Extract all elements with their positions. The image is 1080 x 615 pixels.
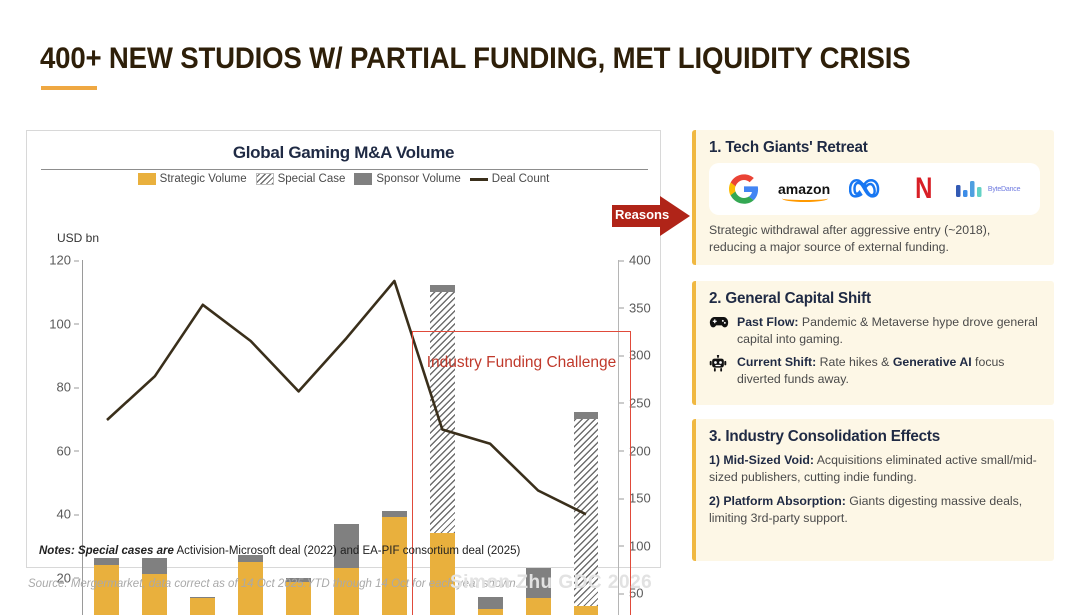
paragraph-platform-absorption: 2) Platform Absorption: Giants digesting… bbox=[709, 493, 1040, 526]
chart-legend: Strategic Volume Special Case Sponsor Vo… bbox=[27, 173, 660, 185]
chart-panel: Global Gaming M&A Volume Strategic Volum… bbox=[26, 130, 661, 568]
notes-text: Activision-Microsoft deal (2022) and EA-… bbox=[176, 545, 520, 557]
legend-item-strategic-volume: Strategic Volume bbox=[138, 173, 247, 185]
bullet-current-shift-body-a: Rate hikes & bbox=[816, 355, 893, 369]
panel-2-heading: 2. General Capital Shift bbox=[709, 290, 1023, 308]
legend-item-sponsor-volume: Sponsor Volume bbox=[354, 173, 460, 185]
amazon-smile-icon bbox=[782, 195, 828, 202]
watermark: Simon Zhu GDC 2026 bbox=[450, 572, 652, 594]
bullet-current-shift: Current Shift: Rate hikes & Generative A… bbox=[709, 354, 1040, 387]
panel-1-heading: 1. Tech Giants' Retreat bbox=[709, 139, 1023, 157]
y-tick-right-350: 350 bbox=[619, 300, 661, 315]
paragraph-2-label: 2) Platform Absorption: bbox=[709, 494, 846, 508]
y-tick-left-100: 100 bbox=[35, 316, 79, 331]
source-note: Source: Mergermarket, data correct as of… bbox=[28, 578, 519, 590]
bullet-current-shift-emphasis: Generative AI bbox=[893, 355, 972, 369]
legend-label-deal-count: Deal Count bbox=[492, 173, 550, 185]
bullet-past-flow: Past Flow: Pandemic & Metaverse hype dro… bbox=[709, 314, 1040, 347]
y-tick-left-120: 120 bbox=[35, 253, 79, 268]
page-title: 400+ NEW STUDIOS W/ PARTIAL FUNDING, MET… bbox=[40, 42, 910, 76]
y-tick-left-40: 40 bbox=[35, 507, 79, 522]
y-axis-left: 020406080100120 bbox=[35, 260, 79, 615]
title-underline-accent bbox=[41, 86, 97, 90]
panel-1-body: Strategic withdrawal after aggressive en… bbox=[709, 222, 1040, 255]
legend-item-special-case: Special Case bbox=[256, 173, 346, 185]
panel-3-heading: 3. Industry Consolidation Effects bbox=[709, 428, 1023, 446]
amazon-logo-text: amazon bbox=[778, 182, 830, 196]
legend-label-strategic: Strategic Volume bbox=[160, 173, 247, 185]
panel-general-capital-shift: 2. General Capital Shift Past Flow: Pand… bbox=[692, 281, 1054, 405]
notes-prefix: Notes: Special cases are bbox=[39, 545, 174, 557]
legend-item-deal-count: Deal Count bbox=[470, 173, 550, 185]
gamepad-icon bbox=[709, 314, 729, 334]
legend-swatch-deal-count bbox=[470, 178, 488, 181]
legend-swatch-sponsor bbox=[354, 173, 372, 185]
bullet-past-flow-text: Past Flow: Pandemic & Metaverse hype dro… bbox=[737, 314, 1040, 347]
legend-label-special: Special Case bbox=[278, 173, 346, 185]
bullet-past-flow-label: Past Flow: bbox=[737, 315, 799, 329]
meta-logo bbox=[849, 175, 893, 203]
legend-swatch-strategic bbox=[138, 173, 156, 185]
amazon-logo: amazon bbox=[778, 182, 830, 196]
tech-giant-logo-strip: amazon N ByteDance bbox=[709, 163, 1040, 215]
reasons-arrow-label: Reasons bbox=[615, 207, 665, 222]
google-logo bbox=[729, 174, 759, 204]
legend-divider bbox=[41, 169, 648, 170]
legend-swatch-special bbox=[256, 173, 274, 185]
y-tick-right-400: 400 bbox=[619, 253, 661, 268]
y-axis-unit-label: USD bn bbox=[57, 231, 99, 245]
paragraph-1-label: 1) Mid-Sized Void: bbox=[709, 453, 814, 467]
reasons-arrow: Reasons bbox=[612, 196, 690, 236]
legend-label-sponsor: Sponsor Volume bbox=[376, 173, 460, 185]
netflix-logo: N bbox=[915, 174, 932, 204]
bullet-current-shift-label: Current Shift: bbox=[737, 355, 816, 369]
y-tick-left-80: 80 bbox=[35, 380, 79, 395]
chart-notes: Notes: Special cases are Activision-Micr… bbox=[39, 545, 520, 557]
industry-funding-challenge-label: Industry Funding Challenge bbox=[416, 337, 627, 389]
panel-tech-giants-retreat: 1. Tech Giants' Retreat amazon N bbox=[692, 130, 1054, 265]
bullet-current-shift-text: Current Shift: Rate hikes & Generative A… bbox=[737, 354, 1040, 387]
bytedance-logo-text: ByteDance bbox=[988, 186, 1020, 193]
paragraph-mid-sized-void: 1) Mid-Sized Void: Acquisitions eliminat… bbox=[709, 452, 1040, 485]
bytedance-logo: ByteDance bbox=[954, 179, 1020, 199]
robot-icon bbox=[709, 354, 729, 378]
panel-industry-consolidation-effects: 3. Industry Consolidation Effects 1) Mid… bbox=[692, 419, 1054, 561]
chart-title: Global Gaming M&A Volume bbox=[27, 143, 660, 163]
y-tick-left-60: 60 bbox=[35, 443, 79, 458]
